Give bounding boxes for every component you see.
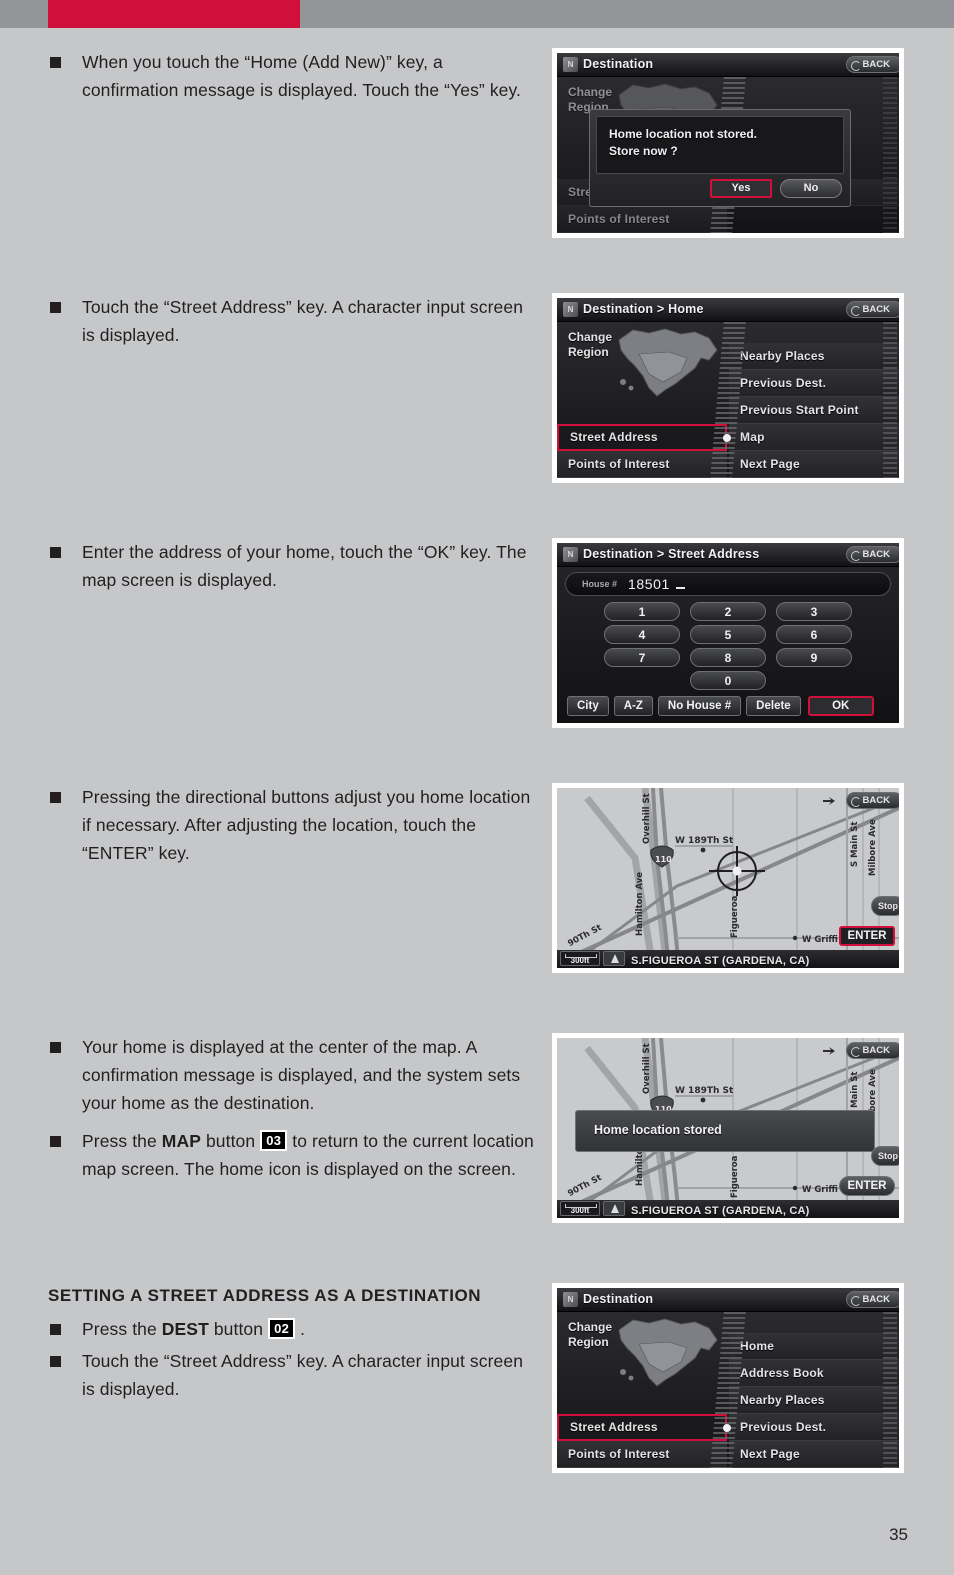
svg-text:Figueroa: Figueroa <box>730 1155 740 1198</box>
nav-logo-icon: N <box>563 302 578 317</box>
map-scale-indicator: 300ft <box>560 1201 600 1216</box>
nav-logo-icon: N <box>563 547 578 562</box>
svg-text:W Griffi: W Griffi <box>802 1185 838 1195</box>
back-button[interactable]: BACK <box>846 1291 899 1308</box>
dest-button-name: DEST <box>162 1319 209 1339</box>
nav-title-text: Destination > Home <box>583 302 704 316</box>
highway-shield: 110 <box>651 846 674 867</box>
bullet-dest-button: Press the DEST button 02 . <box>48 1315 540 1343</box>
enter-button[interactable]: ENTER <box>839 1176 895 1196</box>
dialog-message-panel: Home location not stored. Store now ? <box>596 116 844 174</box>
toast-message: Home location stored <box>575 1110 875 1152</box>
menu-row-next-page[interactable]: Next Page <box>729 451 899 478</box>
numeric-keypad: 1 2 3 4 5 6 7 8 9 <box>565 602 891 667</box>
page-header-accent <box>48 0 300 28</box>
dialog-message-line1: Home location not stored. <box>609 126 831 143</box>
city-button[interactable]: City <box>567 696 609 716</box>
menu-row-previous-dest[interactable]: Previous Dest. <box>729 1414 899 1441</box>
bullet-street-address-2: Touch the “Street Address” key. A charac… <box>48 1347 540 1403</box>
screenshot-column-6: N Destination BACK Change Region <box>552 1283 904 1473</box>
compass-icon[interactable] <box>603 1201 625 1216</box>
menu-left-column: Change Region Street Address <box>557 1312 727 1468</box>
dest-step-mid: button <box>214 1319 263 1339</box>
menu-edge-decoration <box>883 322 897 478</box>
svg-text:W 189Th St: W 189Th St <box>675 836 734 846</box>
svg-text:W 189Th St: W 189Th St <box>675 1086 734 1096</box>
bullet-home-confirm: When you touch the “Home (Add New)” key,… <box>48 48 540 104</box>
svg-text:110: 110 <box>655 855 672 864</box>
menu-row-points-of-interest[interactable]: Points of Interest <box>557 206 727 233</box>
stop-button[interactable]: Stop <box>871 896 899 916</box>
key-2[interactable]: 2 <box>690 602 766 621</box>
ok-button[interactable]: OK <box>808 696 874 716</box>
enter-button[interactable]: ENTER <box>839 926 895 946</box>
menu-right-column: Home Address Book Nearby Places Previous… <box>729 1312 899 1468</box>
back-button[interactable]: BACK <box>846 1042 899 1059</box>
screenshot-confirm-dialog: N Destination BACK Change Region <box>552 48 904 238</box>
svg-text:S Main St: S Main St <box>850 822 860 867</box>
svg-text:Figueroa: Figueroa <box>730 895 740 938</box>
nav-screen-map-stored: W 189Th St 110 Figueroa Hamilton Ave Ove… <box>557 1038 899 1218</box>
menu-row-points-of-interest[interactable]: Points of Interest <box>557 1441 727 1468</box>
menu-row-home[interactable]: Home <box>729 1333 899 1360</box>
north-america-map-icon <box>609 324 729 402</box>
bullet-enter-address: Enter the address of your home, touch th… <box>48 538 540 594</box>
nav-menu-area: Change Region Street Address <box>557 1312 899 1468</box>
a-z-button[interactable]: A-Z <box>614 696 653 716</box>
svg-text:Overhill St: Overhill St <box>642 1043 652 1094</box>
menu-row-nearby-places[interactable]: Nearby Places <box>729 1387 899 1414</box>
zero-key-row: 0 <box>565 671 891 690</box>
screenshot-column-1: N Destination BACK Change Region <box>552 48 904 238</box>
text-column-1: When you touch the “Home (Add New)” key,… <box>48 48 540 104</box>
map-step-prefix: Press the <box>82 1131 157 1151</box>
nav-screen-confirm: N Destination BACK Change Region <box>557 53 899 233</box>
dest-step-prefix: Press the <box>82 1319 157 1339</box>
key-8[interactable]: 8 <box>690 648 766 667</box>
map-button-badge: 03 <box>260 1130 287 1151</box>
nav-screen-keypad: N Destination > Street Address BACK Hous… <box>557 543 899 723</box>
svg-text:W Griffi: W Griffi <box>802 935 838 945</box>
back-button[interactable]: BACK <box>846 792 899 809</box>
dialog-yes-button[interactable]: Yes <box>710 179 772 198</box>
text-caret <box>676 587 685 589</box>
nav-title-text: Destination > Street Address <box>583 547 759 561</box>
key-7[interactable]: 7 <box>604 648 680 667</box>
text-column-6: SETTING A STREET ADDRESS AS A DESTINATIO… <box>48 1283 540 1403</box>
menu-row-points-of-interest[interactable]: Points of Interest <box>557 451 727 478</box>
house-number-value: 18501 <box>628 576 670 592</box>
screenshot-column-4: W 189Th St 110 <box>552 783 904 973</box>
map-status-bar: 300ft S.FIGUEROA ST (GARDENA, CA) <box>557 1200 899 1218</box>
page-body: When you touch the “Home (Add New)” key,… <box>0 28 954 1575</box>
delete-button[interactable]: Delete <box>746 696 801 716</box>
menu-row-nearby-places[interactable]: Nearby Places <box>729 343 899 370</box>
menu-edge-decoration <box>883 77 897 233</box>
page-number: 35 <box>889 1525 908 1545</box>
toast-text: Home location stored <box>594 1123 722 1137</box>
stop-button[interactable]: Stop <box>871 1146 899 1166</box>
nav-logo-icon: N <box>563 57 578 72</box>
nav-menu-area: Change Region Street Address <box>557 322 899 478</box>
screenshot-column-2: N Destination > Home BACK Change Region <box>552 293 904 483</box>
screenshot-map-stored: W 189Th St 110 Figueroa Hamilton Ave Ove… <box>552 1033 904 1223</box>
key-3[interactable]: 3 <box>776 602 852 621</box>
map-scale-indicator: 300ft <box>560 951 600 966</box>
keypad-function-row: City A-Z No House # Delete OK <box>565 696 891 716</box>
menu-row-previous-dest[interactable]: Previous Dest. <box>729 370 899 397</box>
nav-title-text: Destination <box>583 1292 653 1306</box>
nav-title-text: Destination <box>583 57 653 71</box>
menu-row-street-address[interactable]: Street Address <box>557 424 727 451</box>
selection-dot-icon <box>723 1424 731 1432</box>
key-6[interactable]: 6 <box>776 625 852 644</box>
nav-screen-home-menu: N Destination > Home BACK Change Region <box>557 298 899 478</box>
menu-row-previous-start-point[interactable]: Previous Start Point <box>729 397 899 424</box>
menu-left-column: Change Region Street Address <box>557 322 727 478</box>
screenshot-home-menu: N Destination > Home BACK Change Region <box>552 293 904 483</box>
menu-row-street-address[interactable]: Street Address <box>557 1414 727 1441</box>
bullet-street-address: Touch the “Street Address” key. A charac… <box>48 293 540 349</box>
screenshot-map-enter: W 189Th St 110 <box>552 783 904 973</box>
text-column-2: Touch the “Street Address” key. A charac… <box>48 293 540 349</box>
text-column-5: Your home is displayed at the center of … <box>48 1033 540 1183</box>
nav-titlebar: N Destination > Street Address BACK <box>557 543 899 567</box>
key-1[interactable]: 1 <box>604 602 680 621</box>
menu-right-column: Nearby Places Previous Dest. Previous St… <box>729 322 899 478</box>
dialog-message-line2: Store now ? <box>609 143 831 160</box>
text-column-3: Enter the address of your home, touch th… <box>48 538 540 594</box>
manual-page: When you touch the “Home (Add New)” key,… <box>0 0 954 1575</box>
menu-row-next-page[interactable]: Next Page <box>729 1441 899 1468</box>
north-america-map-icon <box>609 1314 729 1392</box>
current-road-name: S.FIGUEROA ST (GARDENA, CA) <box>631 955 810 967</box>
key-9[interactable]: 9 <box>776 648 852 667</box>
nav-screen-map-enter: W 189Th St 110 <box>557 788 899 968</box>
house-number-input[interactable]: House # 18501 <box>565 572 891 596</box>
dest-button-badge: 02 <box>268 1318 295 1339</box>
confirmation-dialog: Home location not stored. Store now ? Ye… <box>589 109 851 207</box>
page-header-bar <box>0 0 954 28</box>
nav-titlebar: N Destination BACK <box>557 1288 899 1312</box>
key-0[interactable]: 0 <box>690 671 766 690</box>
map-step-mid: button <box>206 1131 255 1151</box>
compass-icon[interactable] <box>603 951 625 966</box>
map-button-name: MAP <box>162 1131 201 1151</box>
change-region-label[interactable]: Change Region <box>568 1320 612 1350</box>
house-number-label: House # <box>582 579 617 589</box>
screenshot-destination-menu: N Destination BACK Change Region <box>552 1283 904 1473</box>
dest-step-suffix: . <box>300 1319 305 1339</box>
nav-titlebar: N Destination BACK <box>557 53 899 77</box>
back-button[interactable]: BACK <box>846 301 899 318</box>
bullet-map-button: Press the MAP button 03 to return to the… <box>48 1127 540 1183</box>
dialog-no-button[interactable]: No <box>780 179 842 198</box>
no-house-number-button[interactable]: No House # <box>658 696 741 716</box>
map-status-bar: 300ft S.FIGUEROA ST (GARDENA, CA) <box>557 950 899 968</box>
menu-row-map[interactable]: Map <box>729 424 899 451</box>
svg-text:Overhill St: Overhill St <box>642 793 652 844</box>
menu-row-address-book[interactable]: Address Book <box>729 1360 899 1387</box>
back-button[interactable]: BACK <box>846 546 899 563</box>
nav-titlebar: N Destination > Home BACK <box>557 298 899 322</box>
screenshot-keypad: N Destination > Street Address BACK Hous… <box>552 538 904 728</box>
key-5[interactable]: 5 <box>690 625 766 644</box>
section-heading: SETTING A STREET ADDRESS AS A DESTINATIO… <box>48 1283 540 1309</box>
svg-text:Hamilton Ave: Hamilton Ave <box>635 872 645 936</box>
change-region-label[interactable]: Change Region <box>568 330 612 360</box>
keypad-area: House # 18501 1 2 3 4 5 6 <box>557 567 899 723</box>
screenshot-column-3: N Destination > Street Address BACK Hous… <box>552 538 904 728</box>
nav-screen-destination-menu: N Destination BACK Change Region <box>557 1288 899 1468</box>
screenshot-column-5: W 189Th St 110 Figueroa Hamilton Ave Ove… <box>552 1033 904 1223</box>
text-column-4: Pressing the directional buttons adjust … <box>48 783 540 867</box>
nav-menu-area: Change Region Street Address <box>557 77 899 233</box>
nav-logo-icon: N <box>563 1292 578 1307</box>
menu-edge-decoration <box>883 1312 897 1468</box>
bullet-home-centered: Your home is displayed at the center of … <box>48 1033 540 1117</box>
back-button[interactable]: BACK <box>846 56 899 73</box>
svg-text:Milbore Ave: Milbore Ave <box>868 819 878 876</box>
selection-dot-icon <box>723 434 731 442</box>
current-road-name: S.FIGUEROA ST (GARDENA, CA) <box>631 1205 810 1217</box>
bullet-adjust-location: Pressing the directional buttons adjust … <box>48 783 540 867</box>
key-4[interactable]: 4 <box>604 625 680 644</box>
